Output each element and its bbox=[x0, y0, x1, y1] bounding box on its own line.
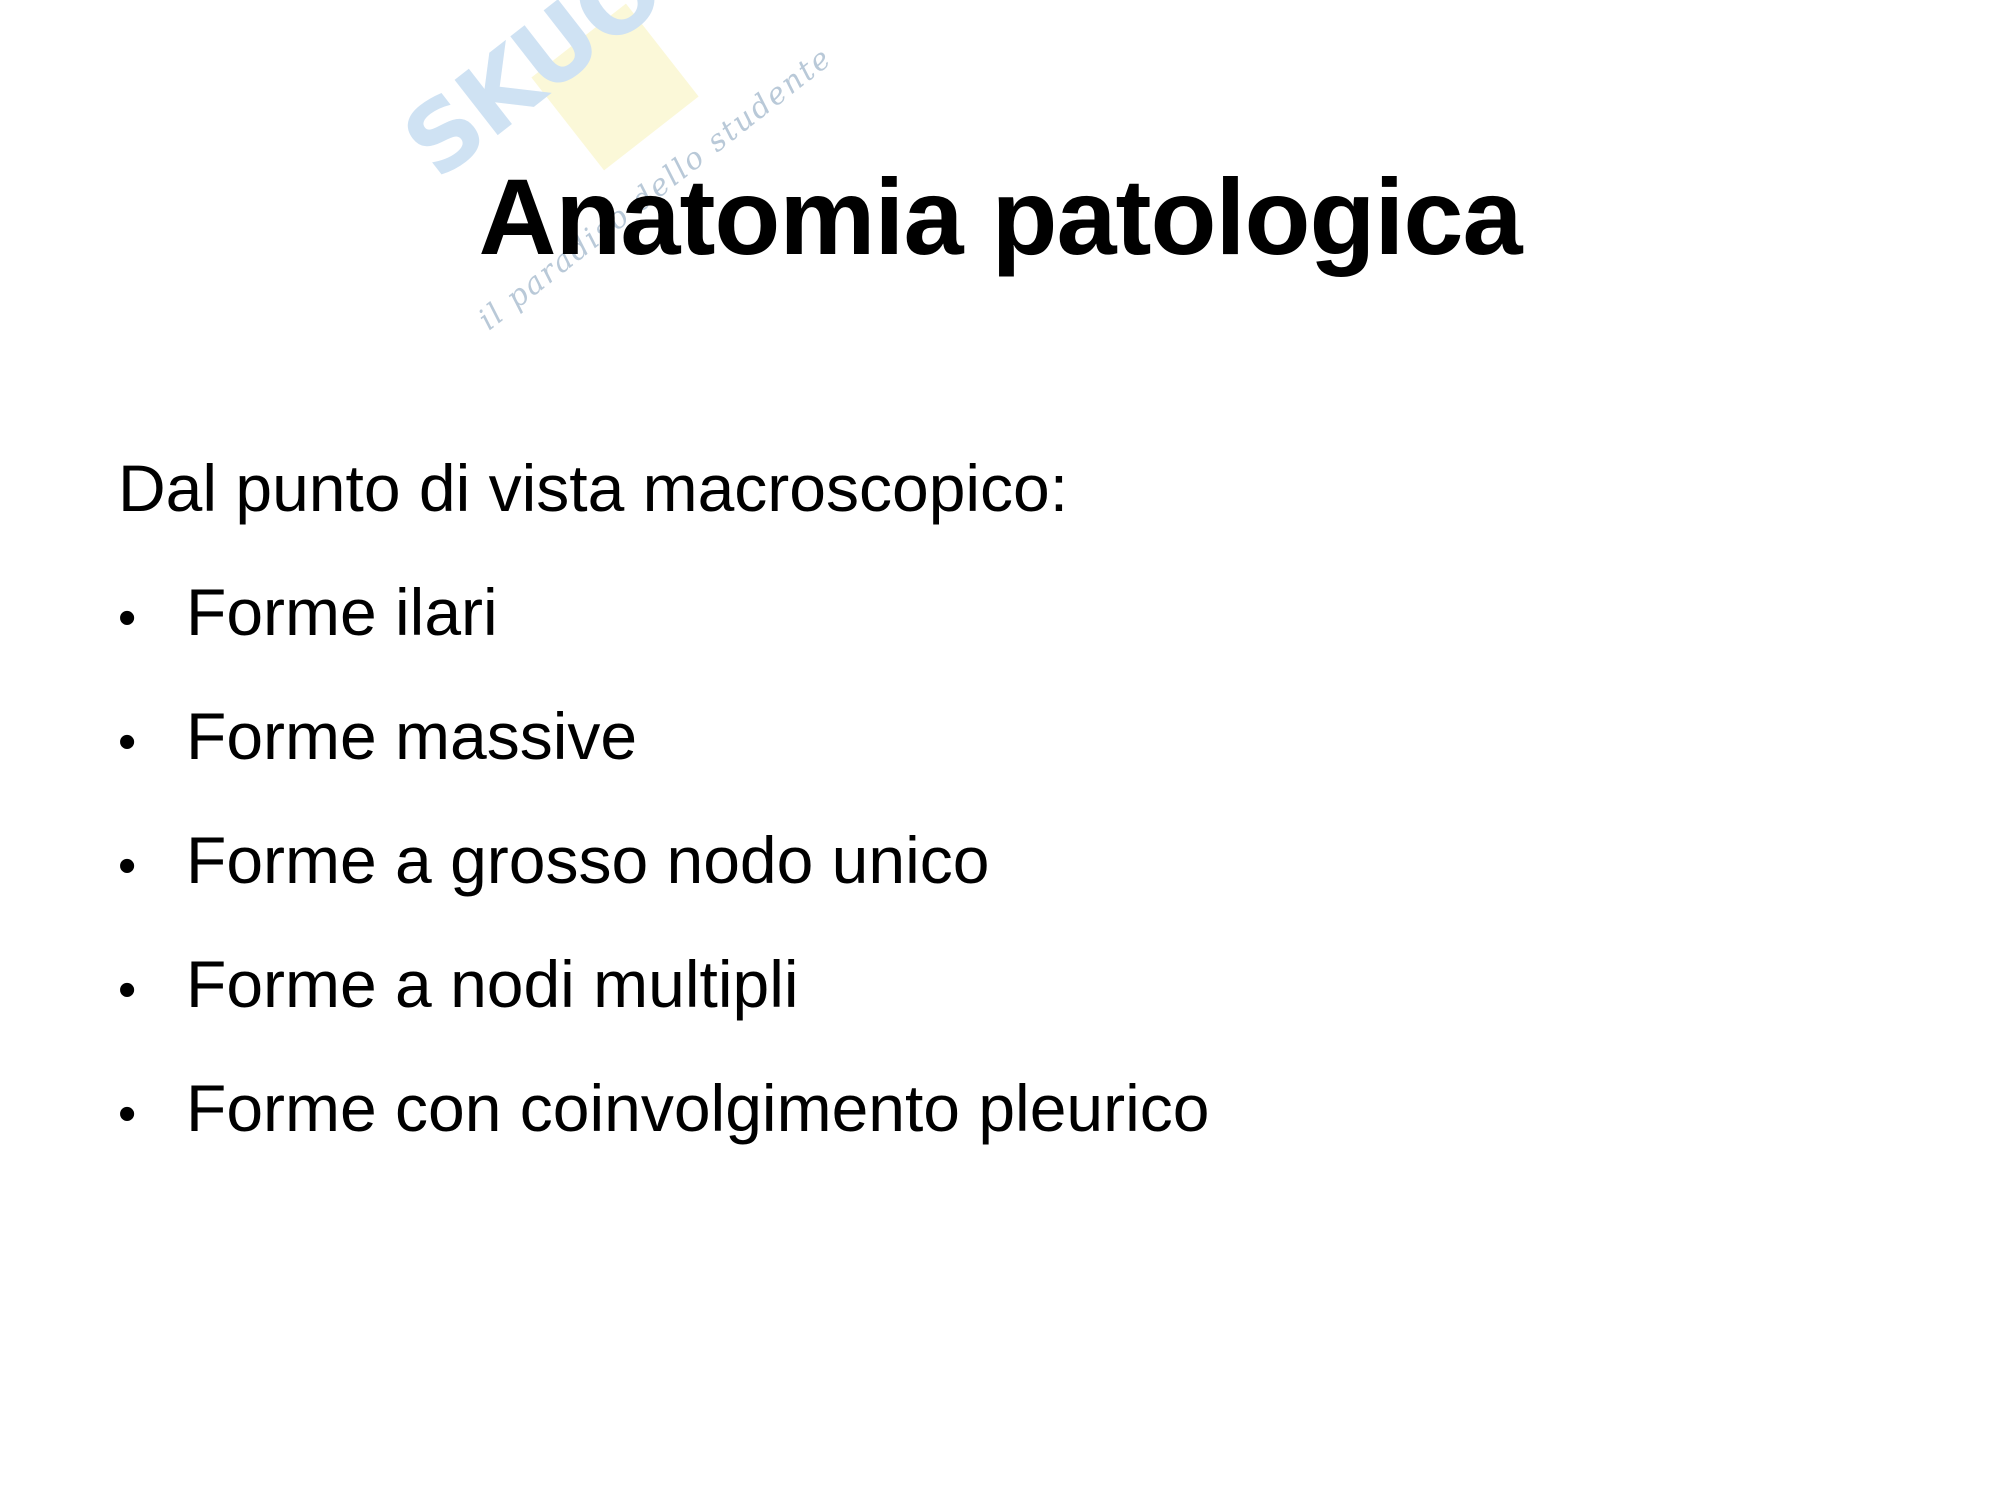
lead-paragraph: Dal punto di vista macroscopico: bbox=[118, 455, 1918, 521]
list-item: • Forme ilari bbox=[118, 579, 1918, 645]
slide-canvas: SKUOLA.net il paradiso dello studente An… bbox=[0, 0, 2000, 1500]
bullet-icon: • bbox=[118, 592, 186, 644]
bullet-icon: • bbox=[118, 964, 186, 1016]
list-item-label: Forme ilari bbox=[186, 579, 498, 645]
bullet-icon: • bbox=[118, 716, 186, 768]
bullet-icon: • bbox=[118, 1088, 186, 1140]
slide-body: Dal punto di vista macroscopico: • Forme… bbox=[118, 455, 1918, 1141]
list-item: • Forme a grosso nodo unico bbox=[118, 827, 1918, 893]
bullet-icon: • bbox=[118, 840, 186, 892]
list-item-label: Forme massive bbox=[186, 703, 637, 769]
list-item: • Forme a nodi multipli bbox=[118, 951, 1918, 1017]
list-item-label: Forme con coinvolgimento pleurico bbox=[186, 1075, 1209, 1141]
bullet-list: • Forme ilari • Forme massive • Forme a … bbox=[118, 579, 1918, 1141]
list-item-label: Forme a grosso nodo unico bbox=[186, 827, 989, 893]
watermark-note-shape bbox=[531, 4, 698, 171]
list-item: • Forme con coinvolgimento pleurico bbox=[118, 1075, 1918, 1141]
list-item: • Forme massive bbox=[118, 703, 1918, 769]
slide-title: Anatomia patologica bbox=[0, 158, 2000, 277]
list-item-label: Forme a nodi multipli bbox=[186, 951, 799, 1017]
